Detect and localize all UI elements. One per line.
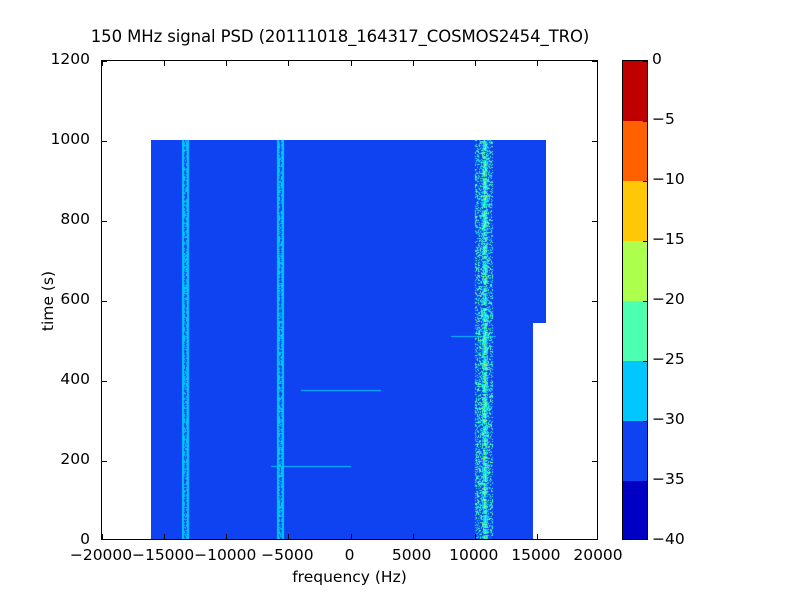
- y-tick-label: 200: [0, 450, 90, 468]
- colorbar-tick-label: −5: [652, 110, 675, 128]
- y-tick-marks: [102, 61, 597, 539]
- y-tick: [102, 381, 107, 382]
- y-tick: [592, 141, 597, 142]
- colorbar: [622, 60, 648, 540]
- colorbar-tick: [643, 481, 647, 482]
- x-tick-label: 20000: [538, 546, 658, 564]
- colorbar-band: [623, 121, 647, 181]
- colorbar-band: [623, 361, 647, 421]
- y-axis-title: time (s): [39, 221, 57, 381]
- colorbar-tick: [643, 421, 647, 422]
- y-tick-label: 1000: [0, 130, 90, 148]
- y-tick: [102, 141, 107, 142]
- colorbar-tick: [643, 241, 647, 242]
- colorbar-tick: [643, 181, 647, 182]
- y-tick: [102, 461, 107, 462]
- colorbar-band: [623, 421, 647, 481]
- y-tick: [592, 221, 597, 222]
- colorbar-tick: [643, 361, 647, 362]
- y-tick: [592, 301, 597, 302]
- y-tick: [102, 301, 107, 302]
- y-tick: [102, 221, 107, 222]
- y-tick-label: 1200: [0, 50, 90, 68]
- colorbar-band: [623, 241, 647, 301]
- x-axis-title: frequency (Hz): [101, 568, 598, 586]
- y-tick: [592, 61, 597, 62]
- colorbar-tick-label: −30: [652, 410, 685, 428]
- colorbar-band: [623, 301, 647, 361]
- colorbar-band: [623, 61, 647, 121]
- page-title: 150 MHz signal PSD (20111018_164317_COSM…: [0, 28, 680, 46]
- y-tick: [592, 381, 597, 382]
- colorbar-tick-label: −35: [652, 470, 685, 488]
- y-tick: [102, 61, 107, 62]
- y-tick: [592, 461, 597, 462]
- colorbar-tick-label: −40: [652, 530, 685, 548]
- colorbar-tick: [643, 301, 647, 302]
- colorbar-tick-label: 0: [652, 50, 662, 68]
- colorbar-tick: [643, 61, 647, 62]
- colorbar-tick-label: −20: [652, 290, 685, 308]
- colorbar-tick-label: −10: [652, 170, 685, 188]
- colorbar-band: [623, 181, 647, 241]
- colorbar-tick-label: −25: [652, 350, 685, 368]
- colorbar-tick: [643, 121, 647, 122]
- spectrogram-axes: [101, 60, 598, 540]
- figure-canvas: 150 MHz signal PSD (20111018_164317_COSM…: [0, 0, 800, 600]
- colorbar-tick-label: −15: [652, 230, 685, 248]
- y-tick-label: 0: [0, 530, 90, 548]
- colorbar-band: [623, 481, 647, 540]
